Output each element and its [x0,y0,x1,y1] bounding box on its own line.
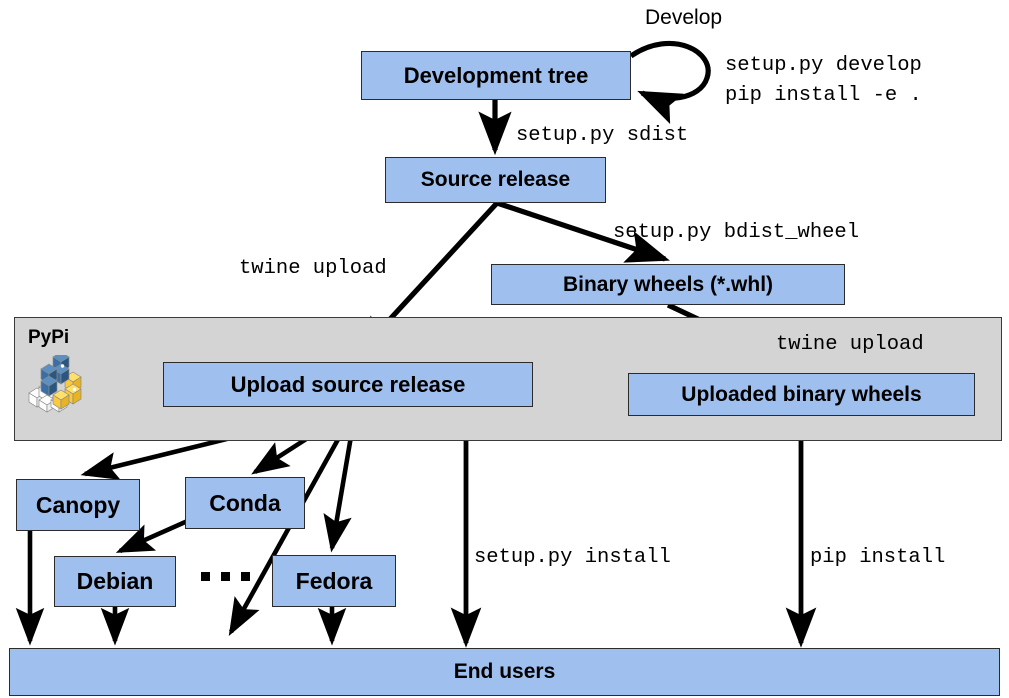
node-conda: Conda [185,477,305,529]
ellipsis-dots [201,572,250,581]
node-label: Canopy [36,492,120,519]
node-label: Conda [209,490,281,517]
ellipsis-dot [201,572,210,581]
node-label: Upload source release [231,372,466,398]
edge-label-develop: Develop [645,4,722,31]
edge-label-setup-sdist: setup.py sdist [516,122,688,149]
node-fedora: Fedora [272,555,396,607]
node-source-release: Source release [385,157,606,203]
edge-label-setup-develop: setup.py develop [725,52,922,79]
node-label: Fedora [296,568,373,595]
ellipsis-dot [221,572,230,581]
edge-label-pip-install-e: pip install -e . [725,82,922,109]
node-debian: Debian [54,556,176,607]
node-label: Development tree [404,63,589,89]
edge-label-setup-bdist-wheel: setup.py bdist_wheel [613,219,859,246]
node-label: Uploaded binary wheels [681,383,921,407]
node-end-users: End users [9,648,1000,696]
python-logo-3d-icon [27,355,89,418]
node-label: Binary wheels (*.whl) [563,273,773,297]
node-binary-wheels: Binary wheels (*.whl) [491,264,845,305]
node-canopy: Canopy [16,479,140,531]
edge-label-twine-upload-left: twine upload [239,255,387,282]
edge-label-setup-install: setup.py install [474,544,671,571]
diagram-canvas: PyPi [0,0,1009,698]
node-label: End users [454,660,556,684]
node-label: Source release [421,168,570,192]
node-label: Debian [77,568,154,595]
edge-label-twine-upload-right: twine upload [776,331,924,358]
node-upload-source: Upload source release [163,362,533,407]
node-dev-tree: Development tree [361,51,631,100]
node-uploaded-wheels: Uploaded binary wheels [628,373,975,416]
pypi-group-label: PyPi [28,327,69,349]
edge-develop-self-loop [631,43,708,98]
edge-label-pip-install: pip install [810,544,945,571]
ellipsis-dot [241,572,250,581]
